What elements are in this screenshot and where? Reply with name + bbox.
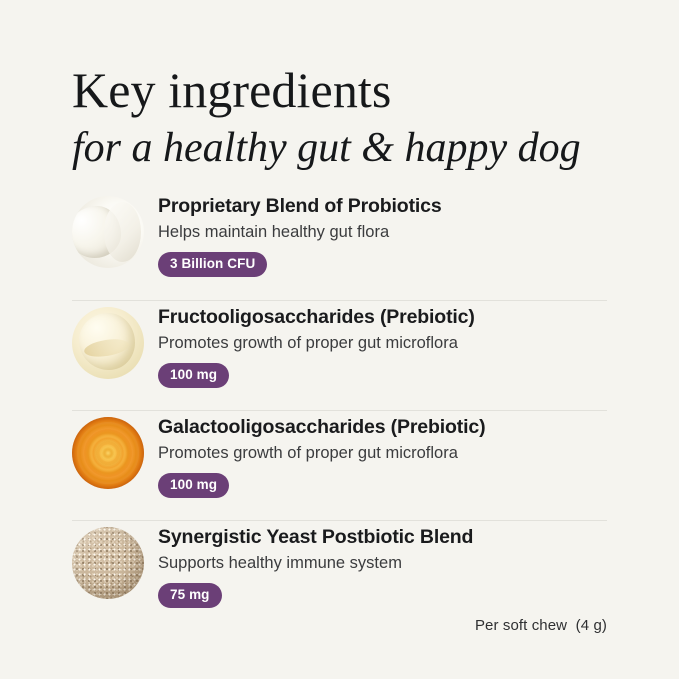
heading-primary: Key ingredients	[72, 64, 612, 117]
ingredient-list: Proprietary Blend of Probiotics Helps ma…	[72, 190, 607, 630]
heading-subtitle: for a healthy gut & happy dog	[72, 125, 612, 171]
thumbnail-wrapper	[72, 521, 158, 599]
status-badge: 75 mg	[158, 583, 222, 608]
thumbnail-wrapper	[72, 190, 158, 268]
ingredient-text: Galactooligosaccharides (Prebiotic) Prom…	[158, 411, 607, 498]
probiotic-cream-thumbnail	[72, 196, 144, 268]
list-item: Synergistic Yeast Postbiotic Blend Suppo…	[72, 520, 607, 630]
ingredient-subtitle: Helps maintain healthy gut flora	[158, 222, 607, 243]
status-badge: 3 Billion CFU	[158, 252, 267, 277]
thumbnail-wrapper	[72, 301, 158, 379]
thumbnail-wrapper	[72, 411, 158, 489]
ingredient-title: Fructooligosaccharides (Prebiotic)	[158, 305, 607, 330]
chicory-root-thumbnail	[72, 307, 144, 379]
ingredient-text: Proprietary Blend of Probiotics Helps ma…	[158, 190, 607, 277]
list-item: Proprietary Blend of Probiotics Helps ma…	[72, 190, 607, 300]
yeast-powder-thumbnail	[72, 527, 144, 599]
status-badge: 100 mg	[158, 473, 229, 498]
ingredient-title: Synergistic Yeast Postbiotic Blend	[158, 525, 607, 550]
ingredient-subtitle: Promotes growth of proper gut microflora	[158, 443, 607, 464]
ingredient-subtitle: Supports healthy immune system	[158, 553, 607, 574]
ingredient-title: Proprietary Blend of Probiotics	[158, 194, 607, 219]
list-item: Fructooligosaccharides (Prebiotic) Promo…	[72, 300, 607, 410]
list-item: Galactooligosaccharides (Prebiotic) Prom…	[72, 410, 607, 520]
carrot-slice-thumbnail	[72, 417, 144, 489]
key-ingredients-panel: Key ingredients for a healthy gut & happ…	[0, 0, 679, 679]
page-title: Key ingredients for a healthy gut & happ…	[72, 64, 612, 171]
serving-size-note: Per soft chew (4 g)	[475, 617, 607, 634]
ingredient-title: Galactooligosaccharides (Prebiotic)	[158, 415, 607, 440]
status-badge: 100 mg	[158, 363, 229, 388]
ingredient-subtitle: Promotes growth of proper gut microflora	[158, 333, 607, 354]
ingredient-text: Synergistic Yeast Postbiotic Blend Suppo…	[158, 521, 607, 608]
ingredient-text: Fructooligosaccharides (Prebiotic) Promo…	[158, 301, 607, 388]
